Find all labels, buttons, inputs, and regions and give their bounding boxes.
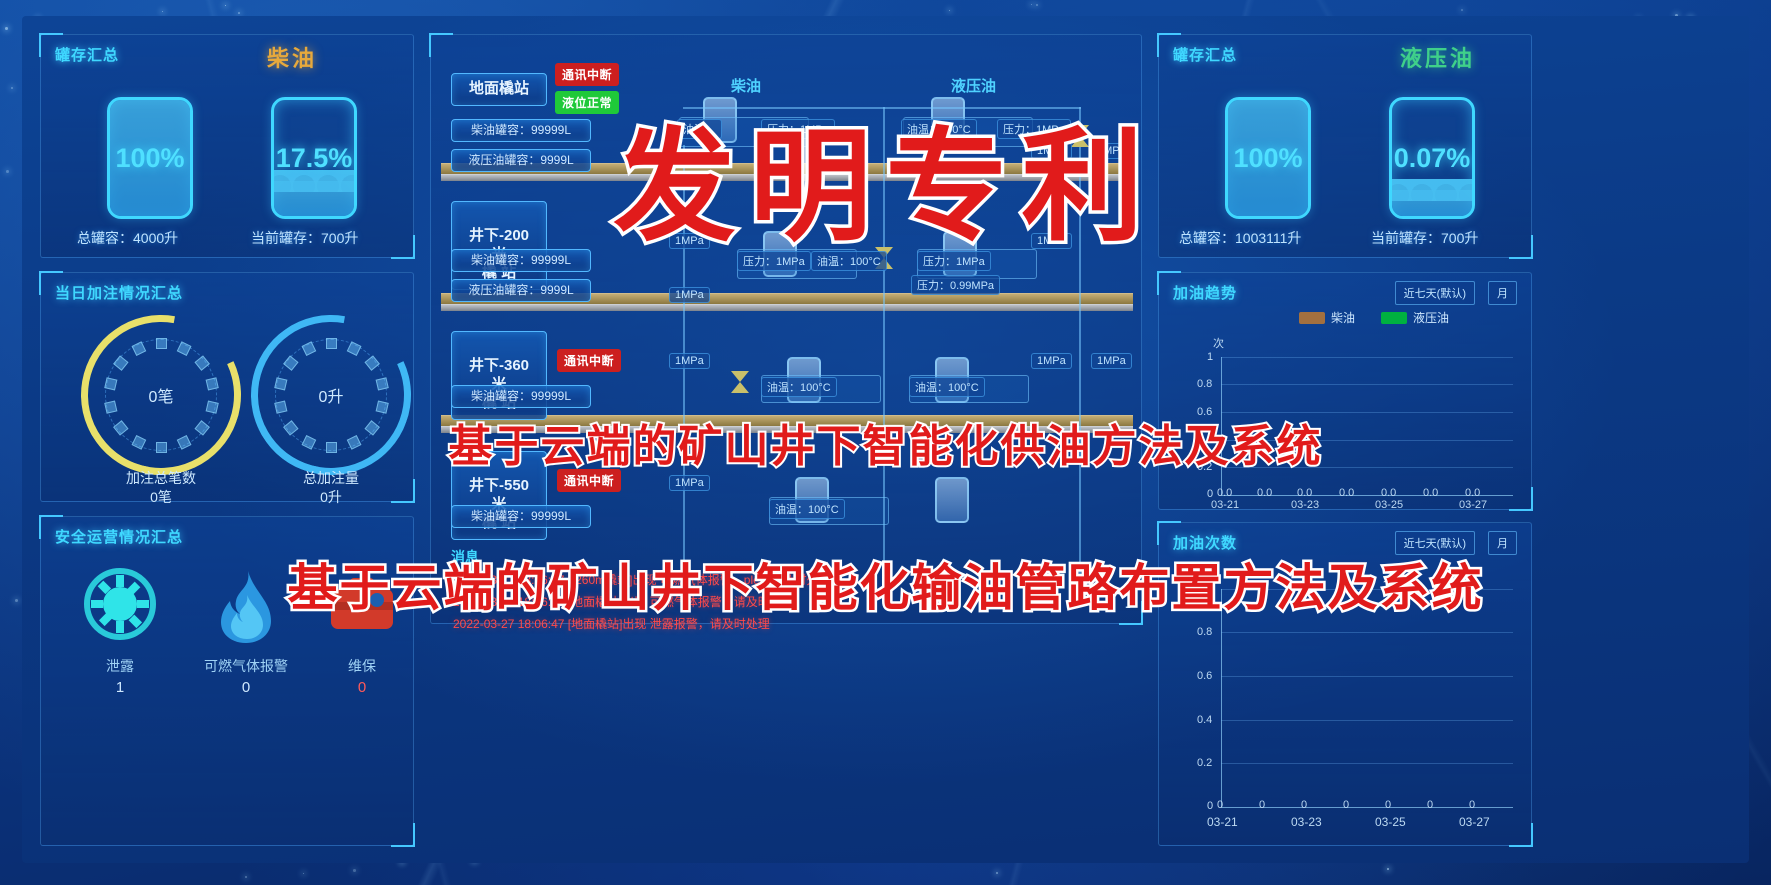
gauge-fill-count: 0笔 [81, 315, 241, 475]
tank-total-right-percent: 100% [1228, 100, 1308, 216]
meter-9: 油温：100°C [909, 377, 985, 397]
panel-right-tank-summary: 罐存汇总 液压油 100% 0.07% 总罐容：1003111升 当前罐存：70… [1158, 34, 1532, 258]
trend-xtick-3: 03-27 [1459, 499, 1487, 511]
tank-total-right-capacity: 总罐容：1003111升 [1179, 228, 1301, 248]
gauge-fill-volume-caption-1: 总加注量 [271, 469, 391, 488]
count-xtick-2: 03-25 [1375, 815, 1406, 829]
count-point-label-1: 0 [1259, 799, 1265, 811]
station-550-tank-diesel: 柴油罐容：99999L [451, 505, 591, 528]
count-gridline-02 [1221, 763, 1513, 764]
gauge-fill-volume-caption-2: 0升 [271, 488, 391, 507]
count-ytick-02: 0.2 [1197, 757, 1212, 769]
trend-range-week-button[interactable]: 近七天(默认) [1395, 281, 1475, 305]
station-200-tank-hyd: 液压油罐容：9999L [451, 279, 591, 302]
safety-item-leak-value: 1 [65, 679, 175, 696]
trend-legend-hydraulic[interactable]: 液压油 [1381, 309, 1449, 326]
trend-xtick-0: 03-21 [1211, 499, 1239, 511]
tank-current-right-percent: 0.07% [1392, 100, 1472, 216]
station-surface-badge-level: 液位正常 [555, 91, 619, 114]
gauge-fill-volume-value: 0升 [251, 315, 411, 475]
meter-7: 压力：0.99MPa [911, 275, 1000, 295]
count-gridline-08 [1221, 632, 1513, 633]
valve-360-1 [731, 371, 749, 393]
station-surface-tank-diesel: 柴油罐容：99999L [451, 119, 591, 142]
station-360-badge-comm: 通讯中断 [557, 349, 621, 372]
trend-legend-diesel-swatch [1299, 312, 1325, 324]
trend-range-month-button[interactable]: 月 [1488, 281, 1517, 305]
trend-xtick-2: 03-25 [1375, 499, 1403, 511]
tank-current-right: 0.07% [1389, 97, 1475, 219]
trend-legend-hydraulic-label: 液压油 [1413, 309, 1449, 326]
pressure-tag-1: 1MPa [669, 287, 710, 303]
tank-current-left-percent: 17.5% [274, 100, 354, 216]
trend-point-label-5: 0.0 [1423, 487, 1438, 499]
trend-ytick-1: 1 [1207, 351, 1213, 363]
panel-left-tank-summary: 罐存汇总 柴油 100% 17.5% 总罐容：4000升 当前罐存：700升 [40, 34, 414, 258]
station-200-tank-diesel: 柴油罐容：99999L [451, 249, 591, 272]
tank-total-left: 100% [107, 97, 193, 219]
watermark-main: 发明专利 [614, 88, 1158, 265]
count-range-month-button[interactable]: 月 [1488, 531, 1517, 555]
trend-point-label-4: 0.0 [1381, 487, 1396, 499]
safety-item-gas-label: 可燃气体报警 [181, 656, 311, 676]
station-surface-tank-hyd: 液压油罐容：9999L [451, 149, 591, 172]
tank-current-right-stock: 当前罐存：700升 [1371, 228, 1478, 248]
panel-title-right-tank: 罐存汇总 [1173, 44, 1237, 65]
station-360-tank-diesel: 柴油罐容：99999L [451, 385, 591, 408]
tank-total-left-capacity: 总罐容：4000升 [77, 228, 178, 248]
station-node-surface[interactable]: 地面橇站 [451, 73, 547, 106]
station-surface-badge-comm: 通讯中断 [555, 63, 619, 86]
station-label-surface: 地面橇站 [469, 80, 529, 97]
trend-point-label-3: 0.0 [1339, 487, 1354, 499]
count-gridline-06 [1221, 676, 1513, 677]
trend-legend-diesel-label: 柴油 [1331, 309, 1355, 326]
meter-10: 油温：100°C [769, 499, 845, 519]
gauge-fill-count-caption: 加注总笔数 0笔 [101, 469, 221, 507]
panel-title-safety: 安全运营情况汇总 [55, 526, 183, 547]
safety-item-maintenance-value: 0 [319, 679, 405, 696]
vessel-hyd-550 [935, 477, 969, 523]
panel-left-daily-fill: 当日加注情况汇总 0笔 0升 加注总笔数 0笔 总加注量 0升 [40, 272, 414, 502]
count-point-label-6: 0 [1469, 799, 1475, 811]
panel-accent-hydraulic: 液压油 [1400, 41, 1475, 73]
trend-legend-diesel[interactable]: 柴油 [1299, 309, 1355, 326]
safety-item-gas-value: 0 [181, 679, 311, 696]
trend-y-axis-unit: 次 [1213, 335, 1224, 351]
app-root: 罐存汇总 柴油 100% 17.5% 总罐容：4000升 当前罐存：700升 当… [0, 0, 1771, 885]
pressure-tag-5: 1MPa [1031, 353, 1072, 369]
tank-total-left-percent: 100% [110, 100, 190, 216]
pressure-tag-2: 1MPa [669, 353, 710, 369]
count-ytick-0: 0 [1207, 800, 1213, 812]
count-ytick-06: 0.6 [1197, 670, 1212, 682]
count-point-label-0: 0 [1217, 799, 1223, 811]
gauge-fill-count-caption-1: 加注总笔数 [101, 469, 221, 488]
tank-current-left-stock: 当前罐存：700升 [251, 228, 358, 248]
strata-pipe-200-grey [441, 304, 1133, 311]
safety-item-leak-label: 泄露 [65, 656, 175, 676]
watermark-line-2: 基于云端的矿山井下智能化输油管路布置方法及系统 [288, 548, 1484, 620]
trend-gridline-08 [1221, 384, 1513, 385]
trend-point-label-2: 0.0 [1297, 487, 1312, 499]
count-point-label-2: 0 [1301, 799, 1307, 811]
trend-point-label-1: 0.0 [1257, 487, 1272, 499]
panel-title-left-tank: 罐存汇总 [55, 44, 119, 65]
count-point-label-4: 0 [1385, 799, 1391, 811]
count-ytick-08: 0.8 [1197, 626, 1212, 638]
count-xtick-3: 03-27 [1459, 815, 1490, 829]
pressure-tag-8: 1MPa [1091, 353, 1132, 369]
panel-title-daily-fill: 当日加注情况汇总 [55, 282, 183, 303]
gauge-fill-count-value: 0笔 [81, 315, 241, 475]
gear-leak-icon [81, 565, 159, 643]
gauge-fill-count-caption-2: 0笔 [101, 488, 221, 507]
trend-legend-hydraulic-swatch [1381, 312, 1407, 324]
tank-total-right: 100% [1225, 97, 1311, 219]
tank-current-left: 17.5% [271, 97, 357, 219]
count-plot-area [1221, 589, 1513, 807]
safety-item-maintenance-label: 维保 [319, 656, 405, 676]
count-ytick-04: 0.4 [1197, 714, 1212, 726]
trend-point-label-0: 0.0 [1217, 487, 1232, 499]
pressure-tag-3: 1MPa [669, 475, 710, 491]
gauge-fill-volume-caption: 总加注量 0升 [271, 469, 391, 507]
safety-item-leak[interactable]: 泄露 1 [65, 565, 175, 696]
station-node-200[interactable]: 井下-200米 橇 站 [451, 201, 547, 290]
flame-icon [207, 565, 285, 643]
count-point-label-3: 0 [1343, 799, 1349, 811]
meter-8: 油温：100°C [761, 377, 837, 397]
count-gridline-04 [1221, 720, 1513, 721]
trend-gridline-1 [1221, 357, 1513, 358]
panel-refuel-trend: 加油趋势 近七天(默认) 月 柴油 液压油 次 1 0.8 [1158, 272, 1532, 510]
gauge-fill-volume: 0升 [251, 315, 411, 475]
trend-point-label-6: 0.0 [1465, 487, 1480, 499]
count-xtick-1: 03-23 [1291, 815, 1322, 829]
count-point-label-5: 0 [1427, 799, 1433, 811]
watermark-line-1: 基于云端的矿山井下智能化供油方法及系统 [449, 410, 1323, 474]
trend-xtick-1: 03-23 [1291, 499, 1319, 511]
count-xtick-0: 03-21 [1207, 815, 1238, 829]
panel-title-refuel-trend: 加油趋势 [1173, 282, 1237, 303]
trend-ytick-08: 0.8 [1197, 378, 1212, 390]
panel-accent-diesel: 柴油 [267, 41, 317, 73]
